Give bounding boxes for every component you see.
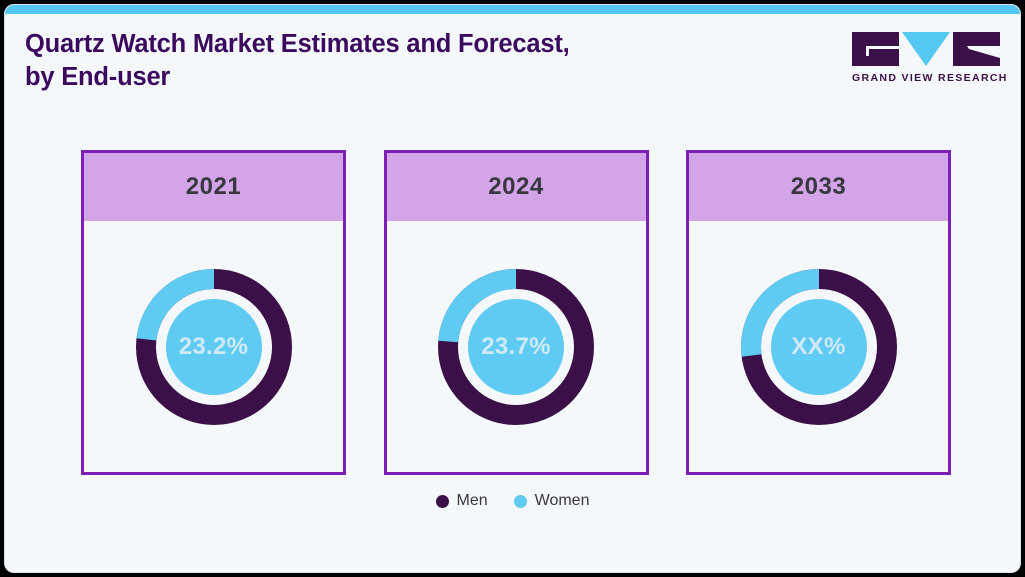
page-title-line-1: Quartz Watch Market Estimates and Foreca… bbox=[25, 28, 725, 61]
donut-center-circle bbox=[468, 299, 564, 395]
legend-label-women: Women bbox=[535, 492, 590, 510]
card-header-2033: 2033 bbox=[689, 153, 948, 221]
year-card-2033[interactable]: 2033 XX% bbox=[686, 150, 951, 475]
logo-g-notch-vertical bbox=[866, 46, 869, 56]
legend-label-men: Men bbox=[457, 492, 488, 510]
donut-svg-2024 bbox=[438, 269, 594, 425]
page-title-line-2: by End-user bbox=[25, 61, 725, 94]
legend: Men Women bbox=[5, 492, 1020, 510]
grand-view-research-logo: GRAND VIEW RESEARCH bbox=[852, 32, 1000, 90]
donut-chart-2024[interactable]: 23.7% bbox=[438, 269, 594, 425]
card-header-2024: 2024 bbox=[387, 153, 646, 221]
year-card-2024[interactable]: 2024 23.7% bbox=[384, 150, 649, 475]
card-body-2024: 23.7% bbox=[387, 221, 646, 472]
infographic-canvas: Quartz Watch Market Estimates and Foreca… bbox=[4, 4, 1021, 573]
card-body-2033: XX% bbox=[689, 221, 948, 472]
legend-dot-men-icon bbox=[436, 495, 449, 508]
logo-wordmark: GRAND VIEW RESEARCH bbox=[852, 72, 1000, 84]
legend-dot-women-icon bbox=[514, 495, 527, 508]
logo-v-triangle-icon bbox=[902, 32, 950, 66]
card-year-label: 2024 bbox=[488, 173, 543, 201]
legend-item-women[interactable]: Women bbox=[514, 492, 590, 510]
donut-svg-2021 bbox=[136, 269, 292, 425]
year-card-2021[interactable]: 2021 23.2% bbox=[81, 150, 346, 475]
card-header-2021: 2021 bbox=[84, 153, 343, 221]
legend-item-men[interactable]: Men bbox=[436, 492, 488, 510]
year-cards-row: 2021 23.2% 2024 bbox=[81, 150, 951, 475]
donut-chart-2021[interactable]: 23.2% bbox=[136, 269, 292, 425]
donut-center-circle bbox=[166, 299, 262, 395]
card-year-label: 2033 bbox=[791, 173, 846, 201]
donut-center-circle bbox=[771, 299, 867, 395]
logo-marks bbox=[852, 32, 1000, 66]
logo-r-mark-icon bbox=[953, 32, 1000, 66]
page-title: Quartz Watch Market Estimates and Foreca… bbox=[25, 28, 725, 94]
donut-chart-2033[interactable]: XX% bbox=[741, 269, 897, 425]
top-accent-bar bbox=[5, 5, 1020, 14]
card-year-label: 2021 bbox=[186, 173, 241, 201]
donut-svg-2033 bbox=[741, 269, 897, 425]
logo-r-notch-svg bbox=[953, 32, 1000, 66]
logo-g-notch-horizontal bbox=[866, 46, 899, 49]
header: Quartz Watch Market Estimates and Foreca… bbox=[5, 14, 1020, 119]
card-body-2021: 23.2% bbox=[84, 221, 343, 472]
logo-g-mark-icon bbox=[852, 32, 899, 66]
